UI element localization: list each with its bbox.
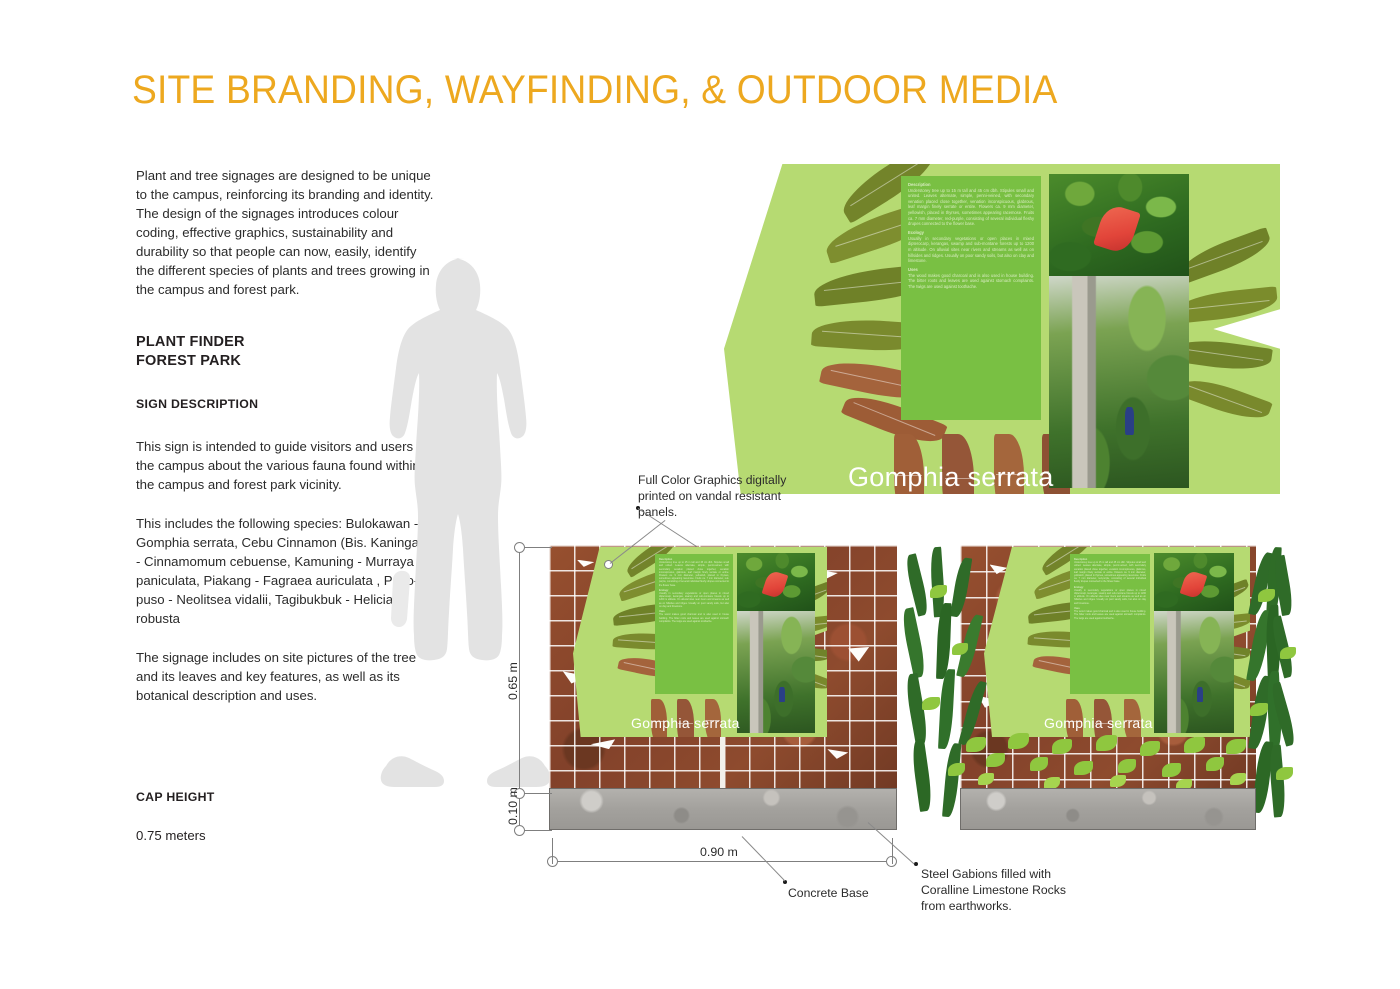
- sign-description-panel: Description Understorey tree up to 15 m …: [655, 554, 733, 694]
- photo-flower-foliage: [737, 553, 815, 615]
- callout-gabion-dot: [914, 862, 918, 866]
- photo-tree-trunk: [1154, 611, 1234, 733]
- callout-graphics: Full Color Graphics digitally printed on…: [638, 472, 803, 520]
- dimension-tick-bottom: [524, 830, 552, 831]
- callout-gabion: Steel Gabions filled with Coralline Lime…: [921, 866, 1071, 914]
- concrete-base: [549, 788, 897, 830]
- desc-text-ecology: Usually in secondary vegetations or open…: [908, 236, 1034, 264]
- dimension-label-width: 0.90 m: [700, 845, 738, 859]
- flower-shape: [1179, 569, 1206, 599]
- person-in-photo: [779, 687, 784, 703]
- dimension-horizontal-rail: [552, 861, 893, 862]
- dimension-label-sign-height: 0.65 m: [506, 662, 520, 700]
- presentation-board: SITE BRANDING, WAYFINDING, & OUTDOOR MED…: [0, 0, 1400, 989]
- concrete-base: [960, 788, 1256, 830]
- planting-creeper-band: [960, 723, 1256, 793]
- desc-text-description: Understorey tree up to 15 m tall and 45 …: [1074, 561, 1146, 583]
- photo-flower-foliage: [1049, 174, 1189, 284]
- dimension-extension-right: [892, 838, 893, 864]
- desc-text-description: Understorey tree up to 15 m tall and 45 …: [908, 188, 1034, 227]
- desc-text-uses: The wood makes good charcoal and is also…: [659, 613, 729, 623]
- person-in-photo: [1125, 407, 1135, 435]
- sign-graphic-on-gabion-left: Description Understorey tree up to 15 m …: [573, 547, 827, 737]
- person-in-photo: [1197, 687, 1203, 703]
- desc-text-description: Understorey tree up to 15 m tall and 45 …: [659, 561, 729, 587]
- photo-tree-trunk: [1049, 276, 1189, 488]
- flower-shape: [762, 569, 789, 599]
- sign-description-panel: Description Understorey tree up to 15 m …: [1070, 554, 1150, 694]
- gabion-elevation-plain: Description Understorey tree up to 15 m …: [549, 545, 897, 838]
- photo-tree-trunk: [737, 611, 815, 733]
- callout-concrete-leader: [742, 836, 786, 881]
- desc-text-uses: The wood makes good charcoal and is also…: [908, 273, 1034, 290]
- dimension-tick-top: [524, 547, 552, 548]
- sign-description-panel: Description Understorey tree up to 15 m …: [901, 176, 1041, 420]
- desc-text-ecology: Usually in secondary vegetations or open…: [659, 592, 729, 608]
- dimension-tick-mid: [524, 793, 552, 794]
- desc-text-ecology: Usually in secondary vegetations or open…: [1074, 589, 1146, 605]
- dimension-extension-left: [552, 838, 553, 864]
- gabion-elevation-planted: Description Understorey tree up to 15 m …: [912, 545, 1304, 838]
- human-scale-silhouette: [378, 256, 553, 841]
- sign-graphic-large: Description Understorey tree up to 15 m …: [724, 164, 1280, 494]
- dimension-label-base-height: 0.10 m: [506, 787, 520, 825]
- species-name-label: Gomphia serrata: [631, 715, 740, 731]
- flower-shape: [1093, 202, 1141, 255]
- desc-text-uses: The wood makes good charcoal and is also…: [1074, 610, 1146, 620]
- photo-flower-foliage: [1154, 553, 1234, 615]
- sign-graphic-on-gabion-right: Description Understorey tree up to 15 m …: [984, 547, 1250, 737]
- callout-concrete: Concrete Base: [788, 885, 908, 901]
- species-name-label: Gomphia serrata: [848, 462, 1054, 493]
- page-title: SITE BRANDING, WAYFINDING, & OUTDOOR MED…: [132, 68, 1057, 113]
